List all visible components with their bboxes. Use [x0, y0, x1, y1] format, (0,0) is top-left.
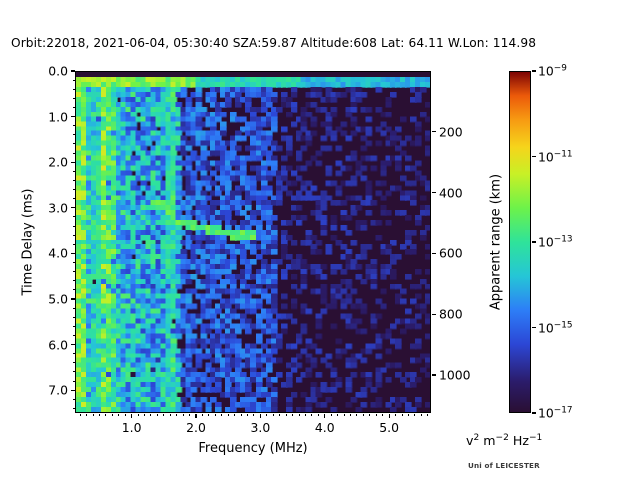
x-tick-minor: [395, 414, 396, 416]
x-tick-minor: [221, 414, 222, 416]
y-tick-minor: [73, 235, 75, 236]
x-tick-minor: [99, 414, 100, 416]
heatmap-canvas: [76, 72, 430, 412]
y-tick-major: [71, 344, 75, 345]
y-tick-minor: [73, 98, 75, 99]
x-tick-minor: [112, 414, 113, 416]
x-tick-minor: [331, 414, 332, 416]
y-tick-major: [71, 70, 75, 71]
x-tick-minor: [427, 414, 428, 416]
y-tick-major: [71, 253, 75, 254]
y-tick-minor: [73, 143, 75, 144]
x-tick-minor: [176, 414, 177, 416]
colorbar-tick: [532, 412, 536, 413]
secondary-y-tick-major: [432, 314, 436, 315]
y-tick-label: 6.0: [48, 337, 68, 352]
colorbar-tick: [532, 156, 536, 157]
secondary-y-tick-major: [432, 192, 436, 193]
x-tick-minor: [279, 414, 280, 416]
secondary-y-tick-label: 200: [439, 124, 463, 139]
x-tick-minor: [305, 414, 306, 416]
y-tick-major: [71, 298, 75, 299]
x-tick-minor: [247, 414, 248, 416]
x-tick-label: 3.0: [251, 420, 271, 435]
y-tick-minor: [73, 125, 75, 126]
y-tick-minor: [73, 153, 75, 154]
y-tick-minor: [73, 335, 75, 336]
x-tick-minor: [344, 414, 345, 416]
x-tick-minor: [157, 414, 158, 416]
ionogram-plot-area[interactable]: [75, 71, 431, 413]
secondary-y-tick-major: [432, 131, 436, 132]
x-tick-minor: [234, 414, 235, 416]
x-tick-minor: [105, 414, 106, 416]
colorbar-units-label: v2 m−2 Hz−1: [466, 433, 542, 448]
colorbar-tick-label: 10−15: [538, 320, 573, 335]
y-tick-minor: [73, 362, 75, 363]
secondary-y-tick-label: 600: [439, 246, 463, 261]
x-tick-minor: [125, 414, 126, 416]
y-tick-major: [71, 162, 75, 163]
colorbar-tick-label: 10−13: [538, 235, 573, 250]
x-tick-minor: [421, 414, 422, 416]
y-tick-label: 4.0: [48, 246, 68, 261]
secondary-y-tick-label: 800: [439, 307, 463, 322]
x-tick-major: [260, 414, 261, 418]
y-tick-minor: [73, 80, 75, 81]
x-tick-minor: [402, 414, 403, 416]
y-tick-minor: [73, 289, 75, 290]
x-tick-minor: [228, 414, 229, 416]
y-tick-major: [71, 390, 75, 391]
x-tick-minor: [118, 414, 119, 416]
x-tick-minor: [208, 414, 209, 416]
x-tick-minor: [241, 414, 242, 416]
secondary-y-tick-major: [432, 253, 436, 254]
x-tick-minor: [93, 414, 94, 416]
x-tick-minor: [170, 414, 171, 416]
secondary-y-axis-title: Apparent range (km): [489, 174, 504, 310]
secondary-y-tick-label: 1000: [439, 368, 471, 383]
y-tick-minor: [73, 308, 75, 309]
x-tick-minor: [150, 414, 151, 416]
x-tick-minor: [376, 414, 377, 416]
y-tick-label: 1.0: [48, 109, 68, 124]
x-tick-minor: [299, 414, 300, 416]
x-tick-minor: [86, 414, 87, 416]
y-tick-minor: [73, 271, 75, 272]
x-tick-minor: [266, 414, 267, 416]
institution-watermark: Uni of LEICESTER: [468, 461, 540, 470]
y-tick-minor: [73, 226, 75, 227]
y-tick-minor: [73, 280, 75, 281]
x-tick-minor: [292, 414, 293, 416]
x-axis-title: Frequency (MHz): [198, 441, 307, 456]
x-tick-label: 4.0: [315, 420, 335, 435]
x-tick-minor: [183, 414, 184, 416]
y-tick-minor: [73, 326, 75, 327]
y-tick-minor: [73, 107, 75, 108]
colorbar-tick-label: 10−17: [538, 406, 573, 421]
x-tick-minor: [189, 414, 190, 416]
colorbar-tick: [532, 241, 536, 242]
x-tick-minor: [202, 414, 203, 416]
x-tick-minor: [369, 414, 370, 416]
x-tick-minor: [337, 414, 338, 416]
secondary-y-tick-major: [432, 374, 436, 375]
colorbar-gradient: [510, 72, 530, 412]
x-tick-label: 2.0: [186, 420, 206, 435]
y-tick-minor: [73, 399, 75, 400]
x-tick-label: 5.0: [379, 420, 399, 435]
y-tick-label: 5.0: [48, 292, 68, 307]
x-tick-minor: [253, 414, 254, 416]
colorbar-tick-label: 10−9: [538, 64, 567, 79]
x-tick-minor: [286, 414, 287, 416]
x-tick-minor: [318, 414, 319, 416]
y-tick-minor: [73, 244, 75, 245]
y-tick-label: 3.0: [48, 200, 68, 215]
y-tick-minor: [73, 262, 75, 263]
colorbar-tick: [532, 70, 536, 71]
y-tick-minor: [73, 89, 75, 90]
x-tick-minor: [382, 414, 383, 416]
y-tick-minor: [73, 371, 75, 372]
y-tick-minor: [73, 134, 75, 135]
y-tick-minor: [73, 198, 75, 199]
y-tick-label: 7.0: [48, 383, 68, 398]
x-tick-label: 1.0: [122, 420, 142, 435]
x-tick-major: [389, 414, 390, 418]
y-tick-major: [71, 116, 75, 117]
x-tick-minor: [311, 414, 312, 416]
y-tick-label: 2.0: [48, 155, 68, 170]
x-tick-major: [195, 414, 196, 418]
y-tick-minor: [73, 408, 75, 409]
y-tick-minor: [73, 180, 75, 181]
x-tick-major: [324, 414, 325, 418]
y-tick-minor: [73, 216, 75, 217]
y-tick-minor: [73, 353, 75, 354]
x-tick-minor: [80, 414, 81, 416]
x-tick-minor: [414, 414, 415, 416]
x-tick-minor: [215, 414, 216, 416]
figure-title: Orbit:22018, 2021-06-04, 05:30:40 SZA:59…: [11, 36, 536, 50]
y-tick-minor: [73, 381, 75, 382]
y-tick-major: [71, 207, 75, 208]
x-tick-minor: [350, 414, 351, 416]
y-tick-label: 0.0: [48, 64, 68, 79]
y-tick-minor: [73, 317, 75, 318]
x-tick-minor: [363, 414, 364, 416]
x-tick-minor: [163, 414, 164, 416]
y-tick-minor: [73, 189, 75, 190]
x-tick-minor: [408, 414, 409, 416]
colorbar-tick: [532, 327, 536, 328]
x-tick-minor: [356, 414, 357, 416]
colorbar-tick-label: 10−11: [538, 149, 573, 164]
x-tick-minor: [144, 414, 145, 416]
colorbar[interactable]: [509, 71, 531, 413]
x-tick-major: [131, 414, 132, 418]
x-tick-minor: [273, 414, 274, 416]
secondary-y-tick-label: 400: [439, 185, 463, 200]
y-tick-minor: [73, 171, 75, 172]
ionogram-figure: Orbit:22018, 2021-06-04, 05:30:40 SZA:59…: [0, 0, 640, 480]
x-tick-minor: [138, 414, 139, 416]
y-axis-title: Time Delay (ms): [21, 189, 36, 296]
